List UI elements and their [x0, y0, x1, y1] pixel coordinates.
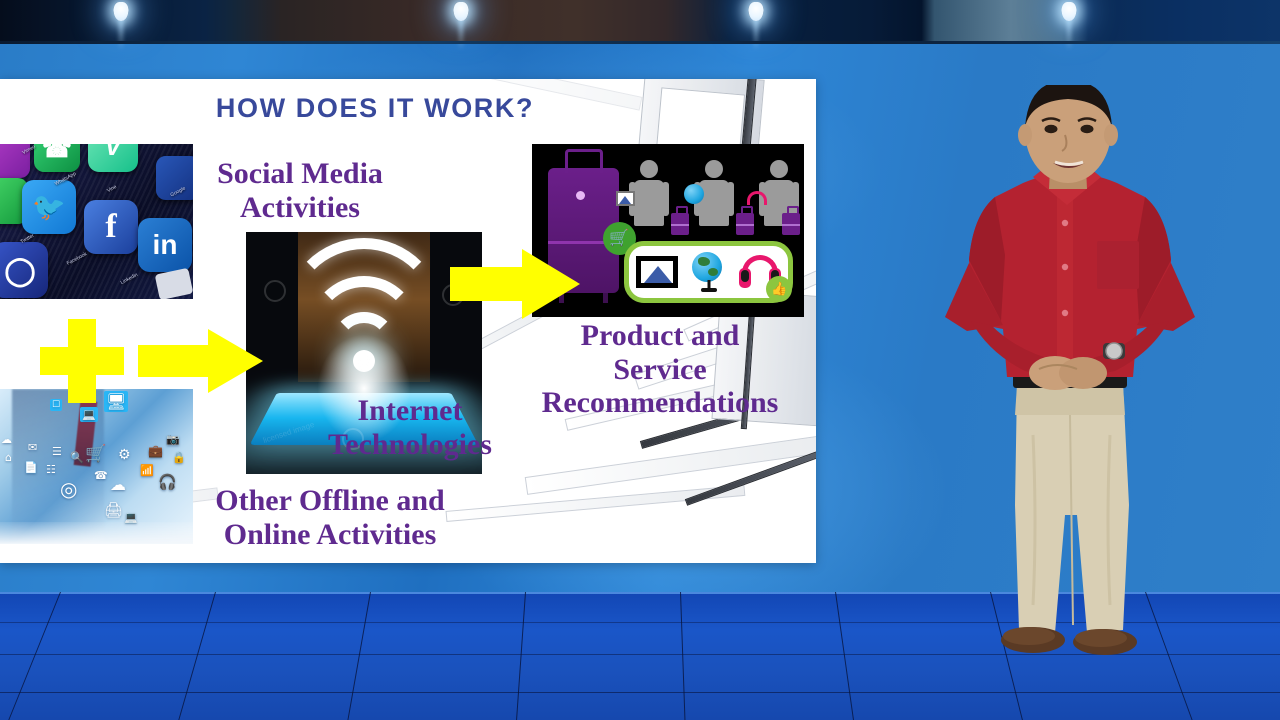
recommended-items-bar: 👍	[624, 241, 793, 303]
ceiling-light-4-icon	[1056, 2, 1082, 42]
globe-icon	[692, 252, 726, 292]
video-frame: HOW DOES IT WORK? ☎ V 🐦 f in ◯ Vimeo Wha…	[0, 0, 1280, 720]
arrow-to-recommendations-icon	[450, 249, 580, 319]
label-other-activities: Other Offline and Online Activities	[170, 484, 490, 551]
other-activities-photo: 🖥 💻 ☐ ☁ ✉ ⌂ 📄 ☰ 🔍 🛒 ⚙ 💼 🔒 📷 ☷ ☎ ◎ ☁ 📶 🎧 …	[0, 389, 193, 544]
arrow-to-internet-icon	[138, 329, 263, 393]
traveler-1	[630, 160, 668, 226]
presentation-slide: HOW DOES IT WORK? ☎ V 🐦 f in ◯ Vimeo Wha…	[0, 79, 816, 563]
slide-title: HOW DOES IT WORK?	[0, 93, 750, 124]
photo-frame-icon	[636, 256, 678, 288]
label-social-media: Social Media Activities	[160, 157, 440, 224]
label-product-recommendations: Product and Service Recommendations	[495, 319, 816, 420]
studio-ceiling	[0, 0, 1280, 44]
ceiling-light-2-icon	[448, 2, 474, 42]
presenter	[905, 85, 1235, 685]
thumbs-up-icon: 👍	[766, 276, 792, 302]
plus-sign-icon	[40, 319, 124, 403]
ceiling-light-3-icon	[743, 2, 769, 42]
ceiling-light-1-icon	[108, 2, 134, 42]
